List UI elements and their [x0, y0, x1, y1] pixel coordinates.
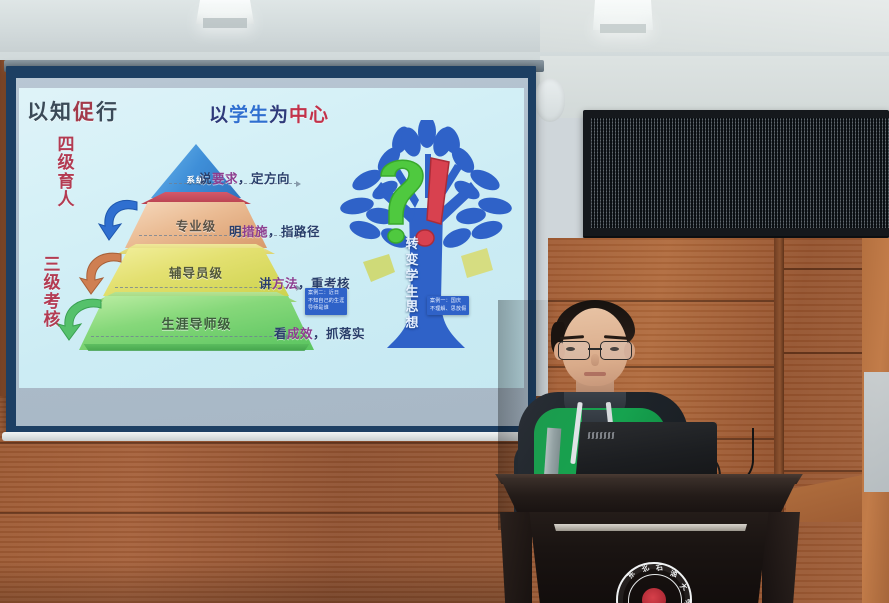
arrow-green-icon — [55, 294, 105, 342]
upper-wall-right — [540, 56, 889, 118]
callout-line: 导师是谁 — [308, 305, 344, 313]
presenter-mouth — [584, 372, 606, 376]
annotation-part: 看 — [274, 327, 287, 341]
wood-seam — [0, 512, 548, 514]
vlabel-char: 四 — [53, 136, 79, 154]
seal-char: 大 — [678, 581, 690, 593]
seal-char: 石 — [655, 563, 663, 574]
presenter-nose — [591, 354, 599, 366]
annotation-part: ，定方向 — [238, 172, 290, 186]
slide-title-center: 以学生为中心 — [209, 100, 329, 127]
annotation-part: ，指路径 — [268, 225, 320, 239]
callout-line: 案例一：国庆 — [430, 298, 466, 306]
tree-graphic-icon — [337, 120, 515, 368]
annotation-1: 说要求，定方向 — [199, 168, 290, 187]
ceiling-light-right-housing — [600, 24, 646, 33]
annotation-2: 明措施，指路径 — [229, 221, 320, 240]
callout-line: 不知自己的生涯 — [308, 298, 344, 306]
podium-accent-strip — [552, 524, 749, 531]
connector-line — [91, 336, 287, 338]
projector-screen-bottom-bar — [2, 432, 542, 441]
laptop-brand-logo-icon — [588, 432, 615, 439]
pyramid-base — [79, 344, 314, 351]
seal-char: 东 — [625, 569, 637, 581]
seal-char: 油 — [669, 568, 678, 580]
slide-title-center-part-b: 学生 — [229, 105, 269, 126]
annotation-part: 方法 — [272, 277, 298, 291]
slide-title-left: 以知促行 — [27, 96, 119, 126]
callout-case-two: 案例二：近日 不知自己的生涯 导师是谁 — [305, 288, 347, 315]
vlabel-char: 育 — [53, 173, 79, 191]
slide-title-left-part-a: 以知 — [27, 101, 73, 124]
tree-text-char: 变 — [404, 252, 420, 268]
vlabel-char: 级 — [39, 274, 65, 292]
annotation-part: 明 — [229, 225, 242, 239]
tree-text-char: 思 — [404, 299, 420, 315]
slide-title-center-part-c: 为 — [269, 105, 289, 126]
annotation-part: 说 — [199, 172, 212, 186]
vlabel-char: 级 — [53, 154, 79, 172]
vlabel-char: 人 — [53, 191, 79, 209]
podium-side-panel-left — [500, 512, 532, 603]
tree-text-char: 想 — [404, 315, 420, 331]
callout-line: 案例二：近日 — [308, 290, 344, 298]
wall-speaker-icon — [535, 78, 565, 122]
university-seal-icon: 东 北 石 油 大 学 — [616, 562, 692, 603]
podium-top-surface — [494, 478, 804, 516]
tree-text-char: 学 — [404, 268, 420, 284]
slide-title-center-part-d: 中心 — [289, 105, 329, 126]
slide-title-left-part-c: 行 — [96, 101, 119, 124]
tree-vertical-text: 转 变 学 生 思 想 — [404, 236, 420, 331]
seal-char: 学 — [681, 598, 693, 603]
annotation-part: 要求 — [212, 172, 238, 186]
seal-char: 北 — [640, 563, 651, 575]
lecture-hall-photo: 以知促行 以学生为中心 四 级 育 人 三 级 考 核 系级 — [0, 0, 889, 603]
callout-line: 不理解、思放假 — [430, 306, 466, 314]
floor-shadow — [0, 560, 520, 603]
ceiling-light-left-housing — [203, 18, 247, 28]
annotation-part: 措施 — [242, 225, 268, 239]
arrow-blue-icon — [97, 196, 141, 242]
tree-text-char: 转 — [404, 236, 420, 252]
slide-title-center-part-a: 以 — [209, 105, 229, 126]
annotation-part: 成效 — [287, 327, 313, 341]
vlabel-char: 三 — [39, 256, 65, 274]
annotation-part: 讲 — [259, 277, 272, 291]
led-display-panel — [591, 118, 889, 228]
label-four-level-education: 四 级 育 人 — [53, 136, 79, 209]
wood-seam — [0, 442, 548, 444]
slide-title-left-part-b: 促 — [73, 101, 96, 124]
seal-characters: 东 北 石 油 大 学 — [616, 562, 692, 603]
side-window — [864, 372, 889, 492]
presentation-slide: 以知促行 以学生为中心 四 级 育 人 三 级 考 核 系级 — [19, 88, 524, 388]
tree-text-char: 生 — [404, 284, 420, 300]
callout-case-one: 案例一：国庆 不理解、思放假 — [427, 296, 469, 315]
